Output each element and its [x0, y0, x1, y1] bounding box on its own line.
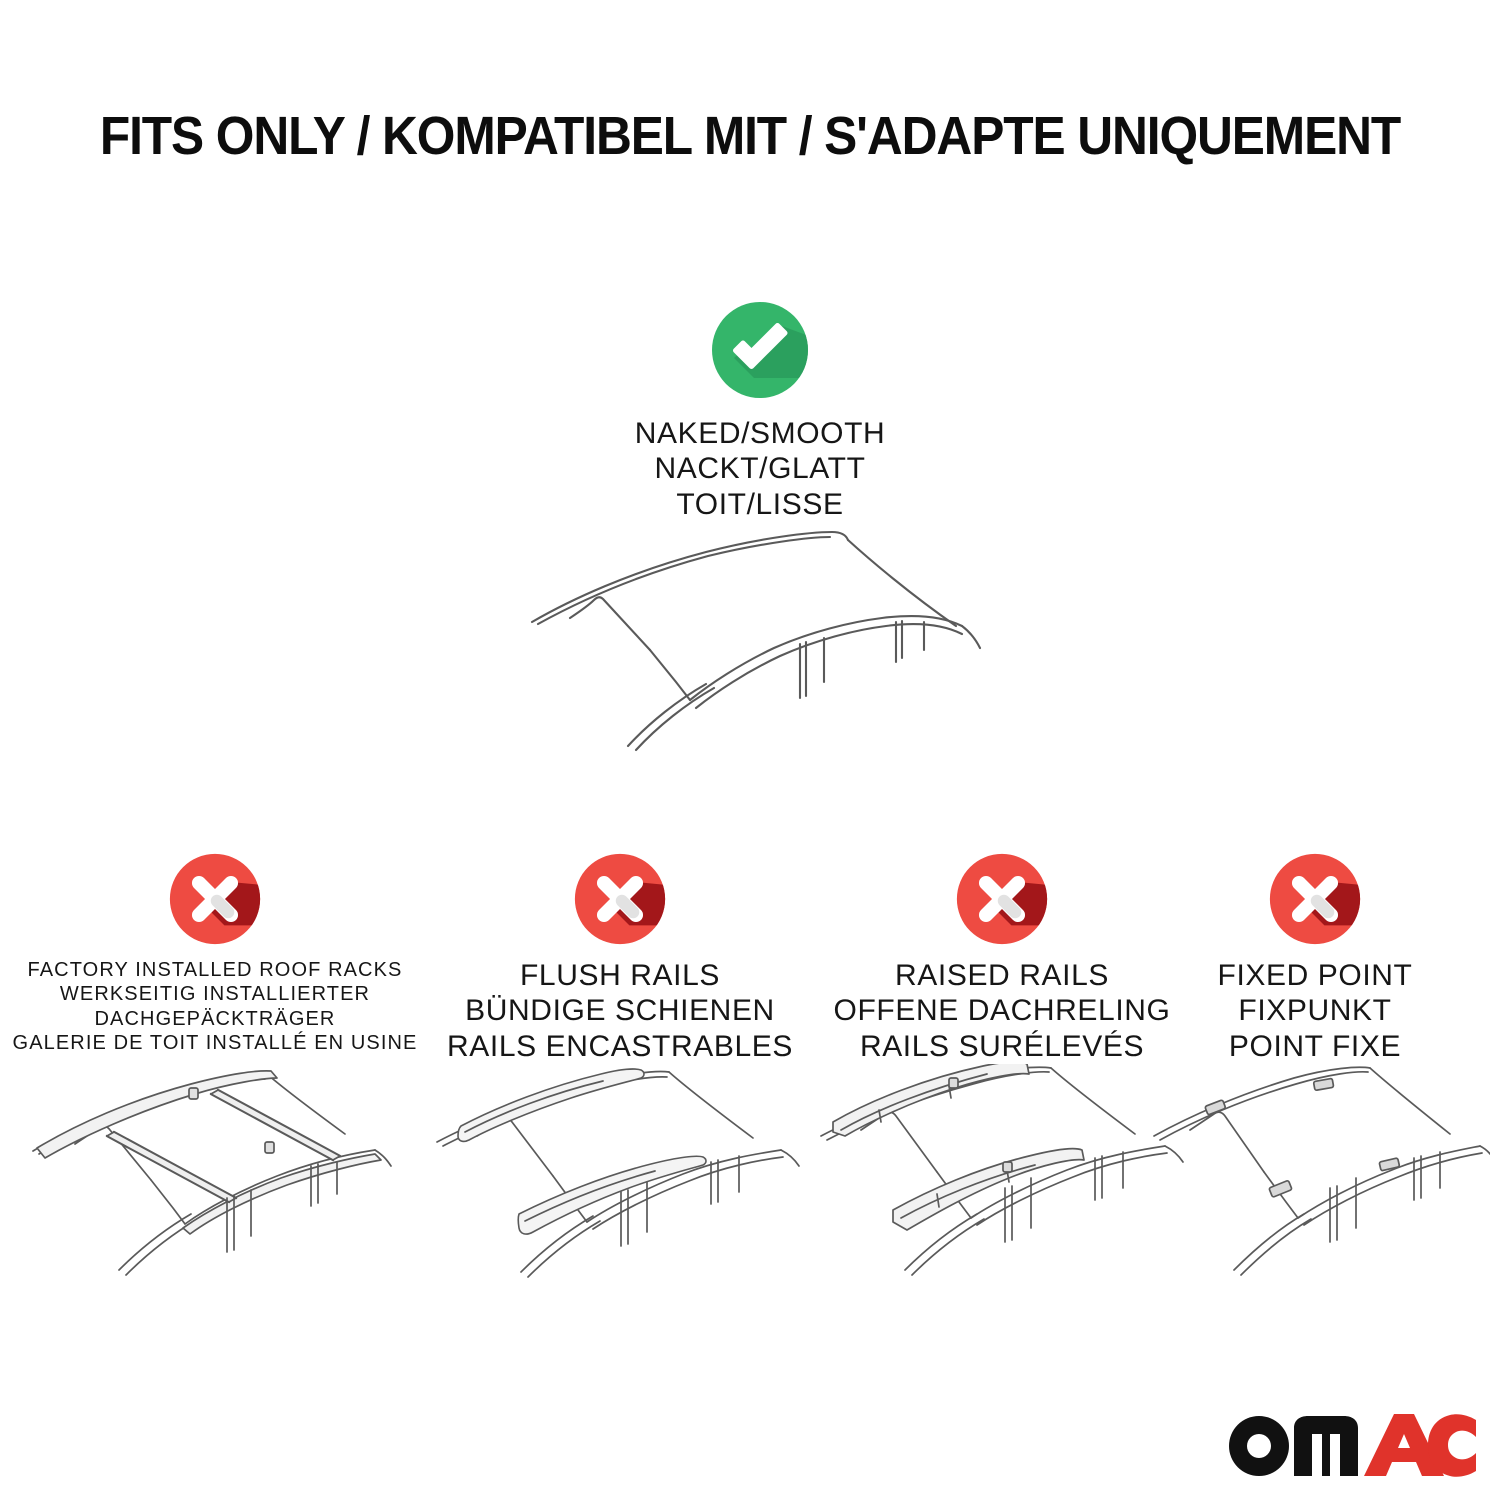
logo-letter-o: [1229, 1416, 1289, 1476]
compatible-label-line-3: TOIT/LISSE: [510, 487, 1010, 522]
red-x-icon: [168, 852, 262, 946]
compatible-label-line-1: NAKED/SMOOTH: [510, 416, 1010, 451]
smooth-roof-illustration: [510, 522, 1010, 772]
compatible-section: NAKED/SMOOTH NACKT/GLATT TOIT/LISSE: [510, 300, 1010, 772]
label-line-2: BÜNDIGE SCHIENEN: [418, 993, 822, 1028]
flush-rails-illustration: [425, 1064, 815, 1294]
label-factory-roof-racks: FACTORY INSTALLED ROOF RACKS WERKSEITIG …: [10, 958, 420, 1056]
logo-letter-m: [1294, 1416, 1358, 1476]
label-line-3: RAILS ENCASTRABLES: [418, 1029, 822, 1064]
incompatible-section-factory-roof-racks: FACTORY INSTALLED ROOF RACKS WERKSEITIG …: [10, 852, 420, 1286]
label-line-1: FACTORY INSTALLED ROOF RACKS: [10, 958, 420, 982]
green-check-icon: [710, 300, 810, 400]
omac-logo: [1218, 1402, 1478, 1482]
compatible-label-line-2: NACKT/GLATT: [510, 451, 1010, 486]
incompatible-section-fixed-point: FIXED POINT FIXPUNKT POINT FIXE: [1140, 852, 1490, 1294]
compatible-labels: NAKED/SMOOTH NACKT/GLATT TOIT/LISSE: [510, 416, 1010, 522]
label-flush-rails: FLUSH RAILS BÜNDIGE SCHIENEN RAILS ENCAS…: [418, 958, 822, 1064]
page-title: FITS ONLY / KOMPATIBEL MIT / S'ADAPTE UN…: [60, 105, 1440, 167]
label-line-2: WERKSEITIG INSTALLIERTER: [10, 982, 420, 1006]
label-line-2: FIXPUNKT: [1140, 993, 1490, 1028]
label-line-1: FIXED POINT: [1140, 958, 1490, 993]
red-x-icon: [955, 852, 1049, 946]
label-line-3: POINT FIXE: [1140, 1029, 1490, 1064]
incompatible-section-flush-rails: FLUSH RAILS BÜNDIGE SCHIENEN RAILS ENCAS…: [418, 852, 822, 1294]
omac-logo-mark: [1218, 1402, 1478, 1482]
label-line-4: GALERIE DE TOIT INSTALLÉ EN USINE: [10, 1031, 420, 1055]
label-line-3: DACHGEPÄCKTRÄGER: [10, 1007, 420, 1031]
label-line-1: FLUSH RAILS: [418, 958, 822, 993]
red-x-icon: [573, 852, 667, 946]
compatibility-infographic: FITS ONLY / KOMPATIBEL MIT / S'ADAPTE UN…: [0, 0, 1500, 1500]
label-fixed-point: FIXED POINT FIXPUNKT POINT FIXE: [1140, 958, 1490, 1064]
fixed-point-illustration: [1140, 1064, 1490, 1294]
red-x-icon: [1268, 852, 1362, 946]
factory-roof-rack-illustration: [15, 1056, 415, 1286]
raised-rails-illustration: [807, 1064, 1197, 1294]
